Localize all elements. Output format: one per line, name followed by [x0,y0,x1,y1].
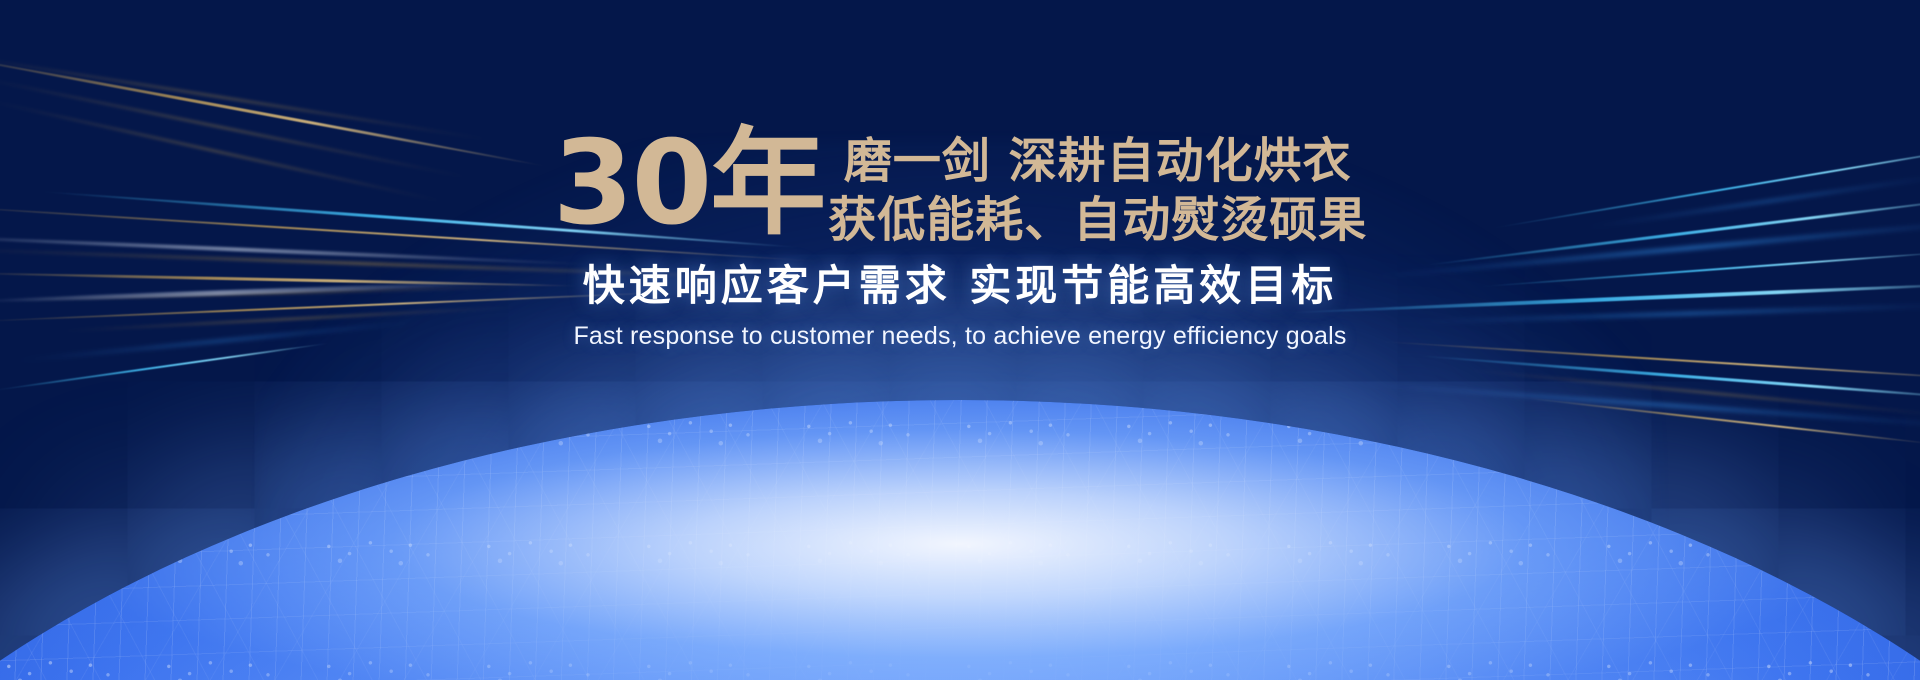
gold-streak-icon [1521,397,1920,446]
gold-slogan-group: 磨一剑 深耕自动化烘衣 获低能耗、自动熨烫硕果 [828,128,1367,249]
cyan-streak-icon [1481,250,1920,287]
gold-streak-icon [1461,368,1920,417]
anniversary-number-unit: 年 [710,116,824,251]
gold-streak-icon [0,52,545,168]
cyan-streak-icon [1493,141,1920,229]
gold-slogan-line-2: 获低能耗、自动熨烫硕果 [828,191,1367,250]
subheadline-english: Fast response to customer needs, to achi… [573,322,1346,351]
cyan-streak-icon [11,320,429,362]
promo-banner: 30年 磨一剑 深耕自动化烘衣 获低能耗、自动熨烫硕果 快速响应客户需求 实现节… [0,0,1920,680]
headline-group: 30年 磨一剑 深耕自动化烘衣 获低能耗、自动熨烫硕果 [553,128,1367,249]
gold-streak-icon [1381,341,1920,382]
cyan-streak-icon [1422,196,1920,267]
cyan-streak-icon [1371,217,1920,279]
cyan-streak-icon [1351,382,1920,430]
white-streak-icon [0,281,490,304]
gold-streak-icon [0,291,670,322]
cyan-streak-icon [1421,355,1920,400]
anniversary-number-value: 30 [553,116,710,251]
anniversary-number: 30年 [553,128,824,239]
cyan-streak-icon [1410,303,1920,323]
gold-streak-icon [0,272,580,288]
earth-city-lights [0,400,1920,680]
white-streak-icon [0,234,590,266]
earth-horizon [0,400,1920,680]
gold-streak-icon [60,306,519,332]
gold-streak-icon [0,99,445,202]
gold-streak-icon [0,74,475,180]
cyan-streak-icon [1582,173,1920,229]
gold-streak-icon [10,284,550,301]
cyan-streak-icon [0,342,328,391]
gold-streak-icon [0,52,497,142]
subheadline-chinese: 快速响应客户需求 实现节能高效目标 [583,252,1338,313]
cyan-streak-icon [1290,281,1920,314]
gold-slogan-line-1: 磨一剑 深耕自动化烘衣 [828,132,1367,191]
